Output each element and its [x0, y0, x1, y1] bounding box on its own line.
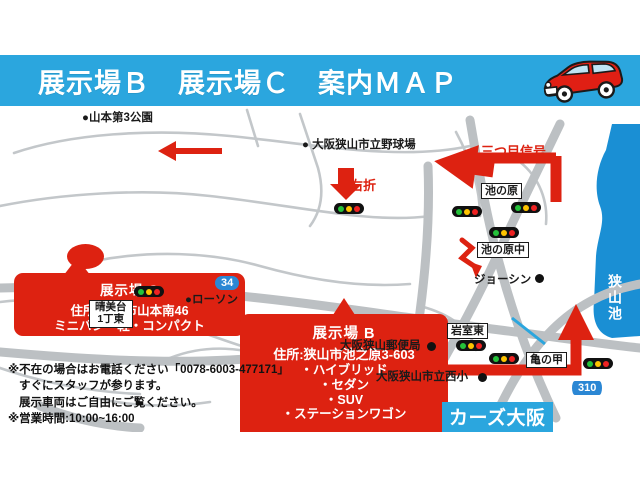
harumidai-line-1: 晴美台	[95, 302, 127, 314]
intersection-ikenohara-naka: 池の原中	[477, 242, 529, 258]
signal-ikenohara-west	[452, 206, 482, 217]
turn-right-note: 右折	[350, 175, 376, 194]
intersection-iwamuro-higashi: 岩室東	[447, 323, 488, 339]
footer-notes: ※不在の場合はお電話ください「0078-6003-477171」 すぐにスタッフ…	[8, 362, 298, 427]
poi-joshin-dot	[535, 274, 544, 283]
map-page: 展示場Ｂ 展示場Ｃ 案内ＭＡＰ	[0, 0, 640, 480]
poi-osakasayama-baseball-stadium: ● 大阪狭山市立野球場	[302, 139, 416, 152]
page-title: 展示場Ｂ 展示場Ｃ 案内ＭＡＰ	[38, 61, 458, 100]
route-shield-310: 310	[572, 381, 602, 395]
signal-post-office	[456, 340, 486, 351]
signal-harumidai	[134, 286, 164, 297]
signal-ikenohara	[511, 202, 541, 213]
poi-yamamoto-3rd-park: ●山本第3公園	[82, 112, 153, 125]
signal-ikenohara-naka-north	[489, 227, 519, 238]
signal-turn-right	[334, 203, 364, 214]
poi-joshin: ジョーシン	[474, 274, 531, 287]
poi-lawson: ●ローソン	[185, 294, 238, 307]
note-line-4: ※営業時間:10:00~16:00	[8, 411, 298, 427]
intersection-ikenohara: 池の原	[481, 183, 522, 199]
poi-post-office-dot	[427, 342, 436, 351]
signal-kamenoko	[583, 358, 613, 369]
kars-osaka-label[interactable]: カーズ大阪	[442, 402, 553, 432]
red-minivan-icon	[534, 57, 626, 105]
note-line-1: ※不在の場合はお電話ください「0078-6003-477171」	[8, 362, 298, 378]
signal-iwamuro-higashi	[489, 353, 519, 364]
third-signal-note: 三つ目信号	[481, 141, 546, 160]
poi-osakasayama-nishi-elementary: 大阪狭山市立西小	[376, 371, 468, 384]
intersection-harumidai-1-higashi: 晴美台 1丁東	[89, 300, 133, 328]
note-line-2: すぐにスタッフが参ります。	[8, 378, 298, 394]
intersection-kamenoko: 亀の甲	[526, 352, 567, 368]
note-line-3: 展示車両はご自由にご覧ください。	[8, 395, 298, 411]
header-banner: 展示場Ｂ 展示場Ｃ 案内ＭＡＰ	[0, 55, 640, 106]
poi-osakasayama-post-office: 大阪狭山郵便局	[340, 340, 421, 353]
sayama-lake-label: 狭山池	[608, 274, 622, 322]
harumidai-line-2: 1丁東	[95, 314, 127, 326]
route-shield-34: 34	[215, 276, 239, 290]
poi-nishi-elementary-dot	[478, 373, 487, 382]
